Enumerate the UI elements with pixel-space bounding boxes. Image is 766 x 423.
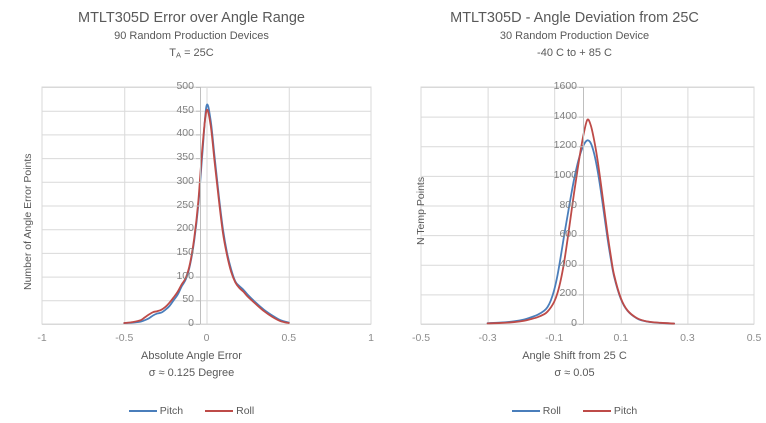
chart-right-legend: RollPitch bbox=[383, 405, 766, 417]
y-tick-label: 600 bbox=[537, 228, 577, 240]
legend-label: Roll bbox=[543, 405, 561, 417]
chart-right-x-axis-title: Angle Shift from 25 C bbox=[383, 350, 766, 362]
legend-swatch-icon bbox=[583, 410, 611, 412]
legend-swatch-icon bbox=[129, 410, 157, 412]
x-tick-label: 0.5 bbox=[729, 332, 766, 344]
legend-label: Pitch bbox=[160, 405, 183, 417]
series-line-roll bbox=[488, 140, 674, 323]
y-tick-label: 1400 bbox=[537, 110, 577, 122]
y-tick-label: 1600 bbox=[537, 80, 577, 92]
legend-item[interactable]: Pitch bbox=[583, 405, 637, 417]
y-tick-label: 300 bbox=[154, 175, 194, 187]
legend-label: Roll bbox=[236, 405, 254, 417]
x-tick-label: 0.1 bbox=[596, 332, 646, 344]
chart-panel-right: MTLT305D - Angle Deviation from 25C 30 R… bbox=[383, 0, 766, 423]
x-tick-label: 0.3 bbox=[662, 332, 712, 344]
chart-left-x-axis-title: Absolute Angle Error bbox=[0, 350, 383, 362]
y-tick-label: 200 bbox=[537, 287, 577, 299]
x-tick-label: 0 bbox=[182, 332, 232, 344]
chart-left-y-axis-title: Number of Angle Error Points bbox=[22, 153, 34, 290]
legend-label: Pitch bbox=[614, 405, 637, 417]
y-tick-label: 250 bbox=[154, 199, 194, 211]
chart-right-plot-wrap: N Temp Points -0.5-0.3-0.10.10.30.5 0200… bbox=[383, 0, 766, 423]
chart-right-y-axis-title: N Temp Points bbox=[415, 177, 427, 245]
chart-left-x-axis-sigma: σ ≈ 0.125 Degree bbox=[0, 367, 383, 379]
x-tick-label: 0.5 bbox=[264, 332, 314, 344]
y-tick-label: 500 bbox=[154, 80, 194, 92]
x-tick-label: -1 bbox=[17, 332, 67, 344]
chart-left-legend: PitchRoll bbox=[0, 405, 383, 417]
y-tick-label: 50 bbox=[154, 293, 194, 305]
y-tick-label: 450 bbox=[154, 104, 194, 116]
charts-row: MTLT305D Error over Angle Range 90 Rando… bbox=[0, 0, 766, 423]
y-tick-label: 0 bbox=[154, 317, 194, 329]
chart-panel-left: MTLT305D Error over Angle Range 90 Rando… bbox=[0, 0, 383, 423]
y-tick-label: 1200 bbox=[537, 139, 577, 151]
legend-item[interactable]: Pitch bbox=[129, 405, 183, 417]
series-line-pitch bbox=[488, 119, 674, 323]
y-tick-label: 350 bbox=[154, 151, 194, 163]
legend-swatch-icon bbox=[512, 410, 540, 412]
legend-swatch-icon bbox=[205, 410, 233, 412]
y-tick-label: 0 bbox=[537, 317, 577, 329]
y-tick-label: 800 bbox=[537, 199, 577, 211]
y-tick-label: 400 bbox=[154, 127, 194, 139]
y-tick-label: 200 bbox=[154, 222, 194, 234]
y-tick-label: 150 bbox=[154, 246, 194, 258]
y-tick-label: 100 bbox=[154, 270, 194, 282]
x-tick-label: -0.5 bbox=[99, 332, 149, 344]
legend-item[interactable]: Roll bbox=[205, 405, 254, 417]
chart-left-plot-wrap: Number of Angle Error Points -1-0.500.51… bbox=[0, 0, 383, 423]
x-tick-label: -0.3 bbox=[463, 332, 513, 344]
y-tick-label: 400 bbox=[537, 258, 577, 270]
x-tick-label: -0.5 bbox=[396, 332, 446, 344]
chart-right-x-axis-sigma: σ ≈ 0.05 bbox=[383, 367, 766, 379]
y-tick-label: 1000 bbox=[537, 169, 577, 181]
x-tick-label: -0.1 bbox=[529, 332, 579, 344]
legend-item[interactable]: Roll bbox=[512, 405, 561, 417]
